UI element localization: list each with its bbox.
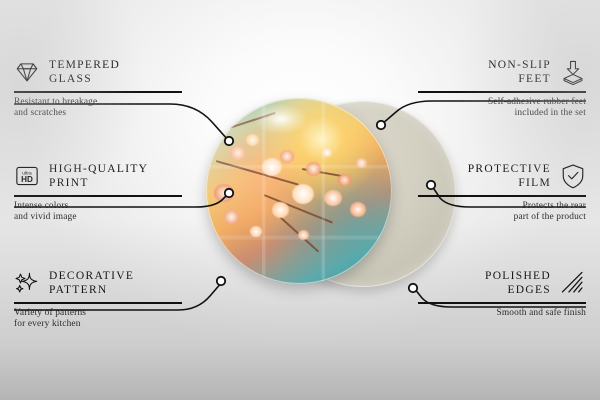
feature-title: PROTECTIVE FILM <box>468 162 551 190</box>
feature-description: Variety of patterns for every kitchen <box>14 308 182 331</box>
feature-heading: TEMPERED GLASS <box>14 58 182 86</box>
feature-polished-edges[interactable]: POLISHED EDGES Smooth and safe finish <box>418 269 586 319</box>
diagonal-lines-icon <box>560 270 586 296</box>
feature-description: Intense colors and vivid image <box>14 201 182 224</box>
divider <box>418 302 586 304</box>
feature-heading: ultra HD HIGH-QUALITY PRINT <box>14 162 182 190</box>
divider <box>14 91 182 93</box>
shield-check-icon <box>560 163 586 189</box>
arrow-down-pad-icon <box>560 59 586 85</box>
divider <box>14 302 182 304</box>
feature-description: Resistant to breakage and scratches <box>14 97 182 120</box>
feature-description: Self-adhesive rubber feet included in th… <box>418 97 586 120</box>
divider <box>418 195 586 197</box>
feature-title: DECORATIVE PATTERN <box>49 269 134 297</box>
feature-title: POLISHED EDGES <box>485 269 551 297</box>
feature-tempered-glass[interactable]: TEMPERED GLASS Resistant to breakage and… <box>14 58 182 120</box>
feature-decorative-pattern[interactable]: DECORATIVE PATTERN Variety of patterns f… <box>14 269 182 331</box>
divider <box>418 91 586 93</box>
feature-heading: POLISHED EDGES <box>418 269 586 297</box>
feature-description: Protects the rear part of the product <box>418 201 586 224</box>
sparkle-icon <box>14 270 40 296</box>
feature-description: Smooth and safe finish <box>418 308 586 320</box>
front-disc-rim <box>206 98 392 284</box>
infographic-canvas: TEMPERED GLASS Resistant to breakage and… <box>0 0 600 400</box>
glass-board-front <box>206 98 392 284</box>
feature-heading: DECORATIVE PATTERN <box>14 269 182 297</box>
diamond-icon <box>14 59 40 85</box>
feature-heading: PROTECTIVE FILM <box>418 162 586 190</box>
feature-non-slip-feet[interactable]: NON-SLIP FEET Self-adhesive rubber feet … <box>418 58 586 120</box>
feature-protective-film[interactable]: PROTECTIVE FILM Protects the rear part o… <box>418 162 586 224</box>
feature-title: NON-SLIP FEET <box>488 58 551 86</box>
svg-text:HD: HD <box>21 175 33 184</box>
feature-high-quality-print[interactable]: ultra HD HIGH-QUALITY PRINT Intense colo… <box>14 162 182 224</box>
feature-title: HIGH-QUALITY PRINT <box>49 162 148 190</box>
feature-title: TEMPERED GLASS <box>49 58 120 86</box>
ultra-hd-icon: ultra HD <box>14 163 40 189</box>
feature-heading: NON-SLIP FEET <box>418 58 586 86</box>
divider <box>14 195 182 197</box>
